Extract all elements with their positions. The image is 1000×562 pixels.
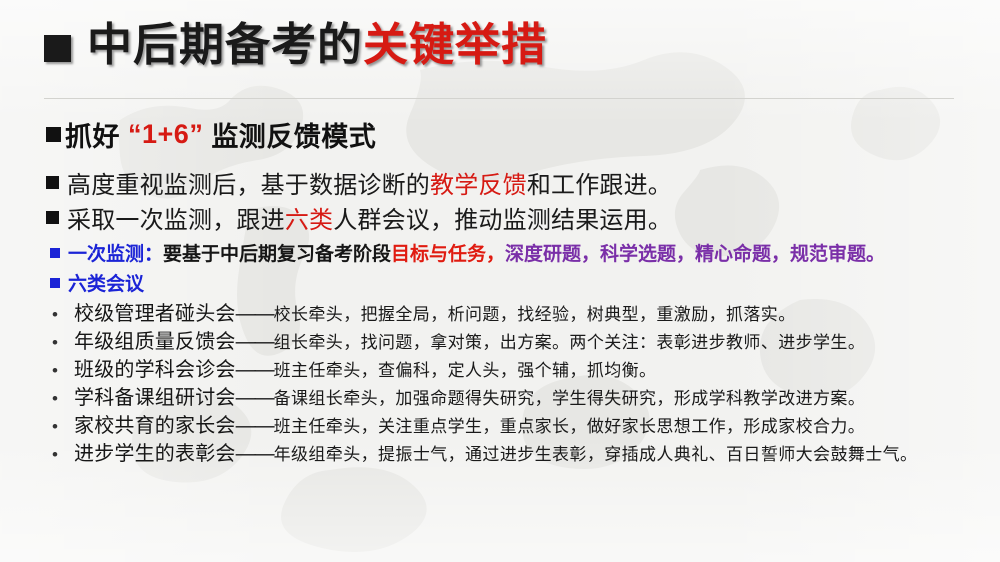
row-2-lead: 年级组质量 — [74, 325, 175, 354]
row-6-dash: —— — [236, 443, 274, 466]
l3-2-label: 六类会议 — [68, 269, 144, 296]
row-6-tail-4: 鼓舞士气。 — [830, 440, 917, 465]
bullet-level3-yicijiance: 一次监测： 要基于中后期复习备考阶段 目标与任务， 深度研题，科学选题，精心命题… — [50, 239, 885, 266]
bullet-l2-1-seg1: 教学反馈 — [430, 165, 527, 200]
row-2-tail-3: 进步教师、进步学生 — [691, 328, 848, 353]
row-5-lead: 家校共育的 — [74, 409, 175, 438]
l3-1-label: 一次监测： — [68, 239, 163, 266]
bullet-square-blue-icon — [50, 248, 60, 258]
heading-quote-open: “ — [128, 119, 142, 150]
list-bullet-dot-icon: • — [52, 361, 74, 381]
bullet-square-icon — [46, 211, 59, 224]
row-2-key: 反馈会 — [175, 325, 236, 354]
row-4-dash: —— — [236, 387, 274, 410]
slide: 中后期备考的 关键举措 抓好 “ 1+6 ” 监测反馈模式 高度重视监测后，基于… — [0, 0, 1000, 562]
list-bullet-dot-icon: • — [52, 333, 74, 353]
row-1-dash: —— — [236, 303, 274, 326]
heading-highlight: 1+6 — [142, 119, 189, 150]
heading-square-bullet-icon — [46, 127, 61, 142]
row-4-key: 研讨会 — [175, 381, 236, 410]
row-3-tail-1: 查偏科，定人头，强个辅，抓均衡。 — [378, 356, 656, 381]
bullet-level3-liuleihuiyi: 六类会议 — [50, 269, 144, 296]
bullet-l2-1-seg0: 高度重视监测后，基于数据诊断的 — [67, 165, 430, 200]
row-1-tail-0: 校长牵头，把握全局， — [274, 300, 448, 325]
row-1-tail-1: 析问题，找经验，树典型，重激励，抓落实。 — [448, 300, 796, 325]
list-item: • 家校共育的 家长会 —— 班主任牵头，关注 重点学生，重点家长， 做好家长思… — [52, 409, 865, 438]
row-5-key: 家长会 — [175, 409, 236, 438]
slide-title: 中后期备考的 关键举措 — [44, 22, 547, 67]
list-item: • 班级的学科 会诊会 —— 班主任牵头， 查偏科，定人头，强个辅，抓均衡。 — [52, 353, 656, 382]
row-4-tail-2: 方案。 — [813, 384, 865, 409]
title-black-text: 中后期备考的 — [87, 22, 363, 67]
row-6-lead: 进步学生的 — [74, 437, 175, 466]
list-item: • 进步学生的 表彰会 —— 年级组牵头， 提振士气 ，通过进步生表彰，穿插 成… — [52, 437, 917, 466]
heading-part2: 监测反馈模式 — [211, 115, 376, 154]
l3-1-seg3: 深度研题，科学选题，精心命题，规范审题。 — [505, 239, 885, 266]
row-1-key: 碰头会 — [175, 297, 236, 326]
world-map-watermark — [0, 0, 1000, 562]
bullet-l2-2-seg1: 六类 — [285, 200, 333, 235]
row-4-tail-0: 备课组长牵头，加强 — [274, 384, 431, 409]
row-3-lead: 班级的学科 — [74, 353, 175, 382]
title-divider — [44, 98, 954, 99]
bullet-level2-2: 采取一次监测，跟进 六类 人群会议，推动监测结果运用。 — [46, 200, 672, 235]
heading-quote-close: ” — [189, 119, 203, 150]
list-bullet-dot-icon: • — [52, 305, 74, 325]
list-item: • 年级组质量 反馈会 —— 组长牵头，找问题，拿对策，出方案。 两个关注： 表… — [52, 325, 865, 354]
row-3-dash: —— — [236, 359, 274, 382]
row-6-tail-2: ，通过进步生表彰，穿插 — [448, 440, 639, 465]
l3-1-seg2: 目标与任务， — [391, 239, 505, 266]
row-6-key: 表彰会 — [175, 437, 236, 466]
row-2-tail-0: 组长牵头，找问题，拿对策，出方案。 — [274, 328, 570, 353]
list-item: • 学科备课组 研讨会 —— 备课组长牵头，加强 命题得失研究，学生得失研究，形… — [52, 381, 865, 410]
row-5-tail-2: 做好家长思想工作，形成家校合力。 — [587, 412, 865, 437]
row-3-key: 会诊会 — [175, 353, 236, 382]
heading-part1: 抓好 — [65, 115, 120, 154]
bullet-square-blue-icon — [50, 278, 60, 288]
list-item: • 校级管理者 碰头会 —— 校长牵头，把握全局， 析问题，找经验，树典型，重激… — [52, 297, 796, 326]
row-4-lead: 学科备课组 — [74, 381, 175, 410]
row-1-lead: 校级管理者 — [74, 297, 175, 326]
bullet-l2-2-seg0: 采取一次监测，跟进 — [67, 200, 285, 235]
row-5-tail-0: 班主任牵头，关注 — [274, 412, 413, 437]
row-2-dash: —— — [236, 331, 274, 354]
section-heading: 抓好 “ 1+6 ” 监测反馈模式 — [46, 115, 376, 154]
bullet-square-icon — [46, 176, 59, 189]
list-bullet-dot-icon: • — [52, 389, 74, 409]
bullet-l2-1-seg2: 和工作跟进。 — [527, 165, 672, 200]
row-6-tail-0: 年级组牵头， — [274, 440, 378, 465]
row-3-tail-0: 班主任牵头， — [274, 356, 378, 381]
row-6-tail-3: 成人典礼、百日誓师大会 — [639, 440, 830, 465]
row-4-tail-1: 命题得失研究，学生得失研究，形成学科教学改进 — [430, 384, 813, 409]
title-square-bullet-icon — [44, 35, 71, 62]
bullet-level2-1: 高度重视监测后，基于数据诊断的 教学反馈 和工作跟进。 — [46, 165, 672, 200]
row-5-tail-1: 重点学生，重点家长， — [413, 412, 587, 437]
slide-sheen — [0, 0, 1000, 562]
title-red-text: 关键举措 — [363, 22, 547, 67]
row-2-tail-2: 表彰 — [656, 328, 691, 353]
row-6-tail-1: 提振士气 — [378, 440, 448, 465]
row-2-tail-4: 。 — [848, 328, 865, 353]
bullet-l2-2-seg2: 人群会议，推动监测结果运用。 — [333, 200, 672, 235]
list-bullet-dot-icon: • — [52, 445, 74, 465]
row-5-dash: —— — [236, 415, 274, 438]
list-bullet-dot-icon: • — [52, 417, 74, 437]
row-2-tail-1: 两个关注： — [569, 328, 656, 353]
l3-1-seg1: 要基于中后期复习备考阶段 — [163, 239, 391, 266]
